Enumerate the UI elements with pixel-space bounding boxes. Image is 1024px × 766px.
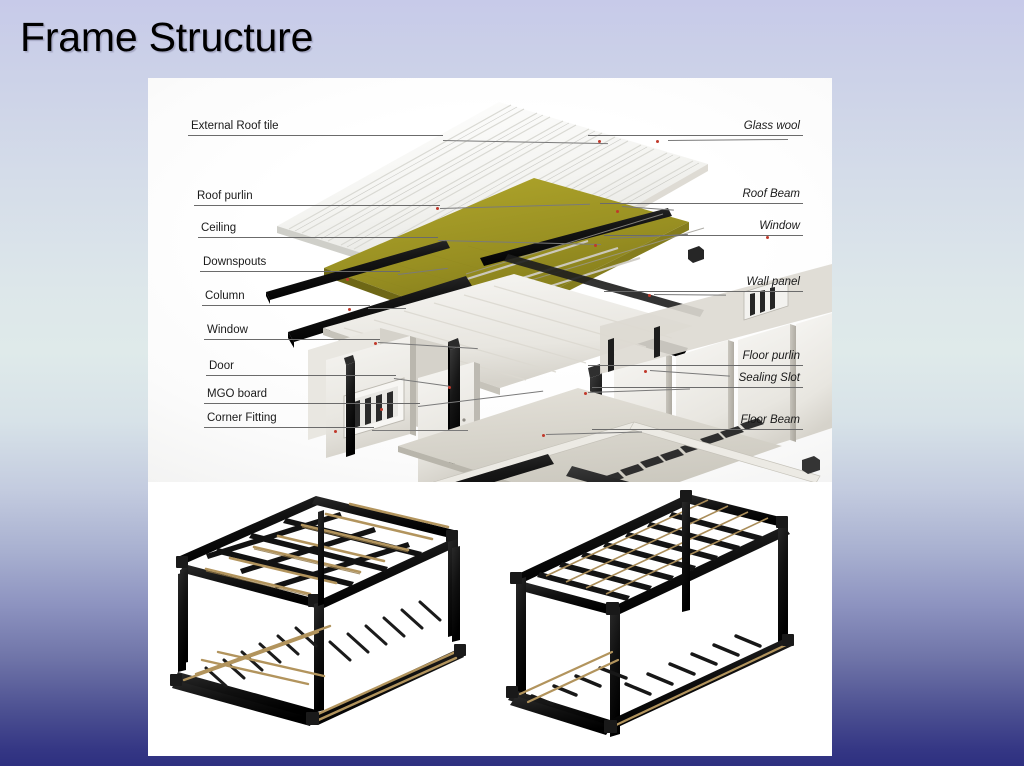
callout-floor-beam[interactable]: Floor Beam: [592, 414, 803, 430]
callout-label: Window: [604, 220, 803, 235]
callout-floor-purlin[interactable]: Floor purlin: [588, 350, 803, 366]
callout-mgo-board[interactable]: MGO board: [204, 388, 420, 404]
callout-rule: [604, 291, 803, 292]
leader-corner-fitting: [372, 430, 468, 431]
callout-rule: [204, 427, 374, 428]
callout-rule: [198, 237, 438, 238]
callout-rule: [200, 271, 400, 272]
callout-label: Downspouts: [200, 256, 400, 271]
callout-label: Roof purlin: [194, 190, 440, 205]
callout-rule: [204, 339, 380, 340]
callout-sealing-slot[interactable]: Sealing Slot: [592, 372, 803, 388]
marker-glass-wool: [656, 140, 659, 143]
callout-label: Column: [202, 290, 370, 305]
callout-roof-beam[interactable]: Roof Beam: [600, 188, 803, 204]
exploded-view-image: External Roof tile Roof purlin Ceiling D…: [148, 78, 832, 482]
marker-corner-fitting: [334, 430, 337, 433]
marker-external-roof-tile: [598, 140, 601, 143]
callout-label: Window: [204, 324, 380, 339]
callout-rule: [202, 305, 370, 306]
callout-rule: [592, 429, 803, 430]
marker-mgo-board: [380, 408, 383, 411]
callout-downspouts[interactable]: Downspouts: [200, 256, 400, 272]
callout-rule: [588, 365, 803, 366]
callout-ceiling[interactable]: Ceiling: [198, 222, 438, 238]
marker-roof-purlin: [436, 207, 439, 210]
diagram-panel: External Roof tile Roof purlin Ceiling D…: [148, 78, 832, 756]
exploded-frame-diagram: [170, 496, 466, 726]
marker-wall-panel: [648, 294, 651, 297]
callout-external-roof-tile[interactable]: External Roof tile: [188, 120, 443, 136]
marker-sealing-slot: [584, 392, 587, 395]
slide-canvas: Frame Structure: [0, 0, 1024, 766]
callout-label: Floor Beam: [592, 414, 803, 429]
marker-roof-beam: [616, 210, 619, 213]
callout-rule: [600, 203, 803, 204]
callout-window-left[interactable]: Window: [204, 324, 380, 340]
callout-label: External Roof tile: [188, 120, 443, 135]
callout-rule: [204, 403, 420, 404]
leader-column: [368, 308, 406, 309]
callout-label: Sealing Slot: [592, 372, 803, 387]
callout-label: Roof Beam: [600, 188, 803, 203]
callout-wall-panel[interactable]: Wall panel: [604, 276, 803, 292]
frame-skeleton-artwork: [148, 482, 832, 756]
callout-rule: [206, 375, 396, 376]
callout-label: Floor purlin: [588, 350, 803, 365]
marker-window-right: [766, 236, 769, 239]
marker-window-left: [374, 342, 377, 345]
frame-skeletons-image: [148, 482, 832, 756]
callout-door[interactable]: Door: [206, 360, 396, 376]
callout-label: MGO board: [204, 388, 420, 403]
callout-roof-purlin[interactable]: Roof purlin: [194, 190, 440, 206]
callout-corner-fitting[interactable]: Corner Fitting: [204, 412, 374, 428]
page-title: Frame Structure: [20, 13, 313, 61]
assembled-frame-diagram: [506, 490, 794, 737]
marker-downspouts: [346, 278, 349, 281]
callout-rule: [592, 387, 803, 388]
marker-column: [348, 308, 351, 311]
callout-rule: [194, 205, 440, 206]
marker-door: [448, 386, 451, 389]
callout-window-right[interactable]: Window: [604, 220, 803, 236]
marker-ceiling: [594, 244, 597, 247]
callout-column[interactable]: Column: [202, 290, 370, 306]
callout-label: Wall panel: [604, 276, 803, 291]
callout-label: Door: [206, 360, 396, 375]
callout-label: Corner Fitting: [204, 412, 374, 427]
callout-rule: [588, 135, 803, 136]
callout-rule: [188, 135, 443, 136]
callout-glass-wool[interactable]: Glass wool: [588, 120, 803, 136]
callout-label: Glass wool: [588, 120, 803, 135]
marker-floor-beam: [542, 434, 545, 437]
callout-label: Ceiling: [198, 222, 438, 237]
